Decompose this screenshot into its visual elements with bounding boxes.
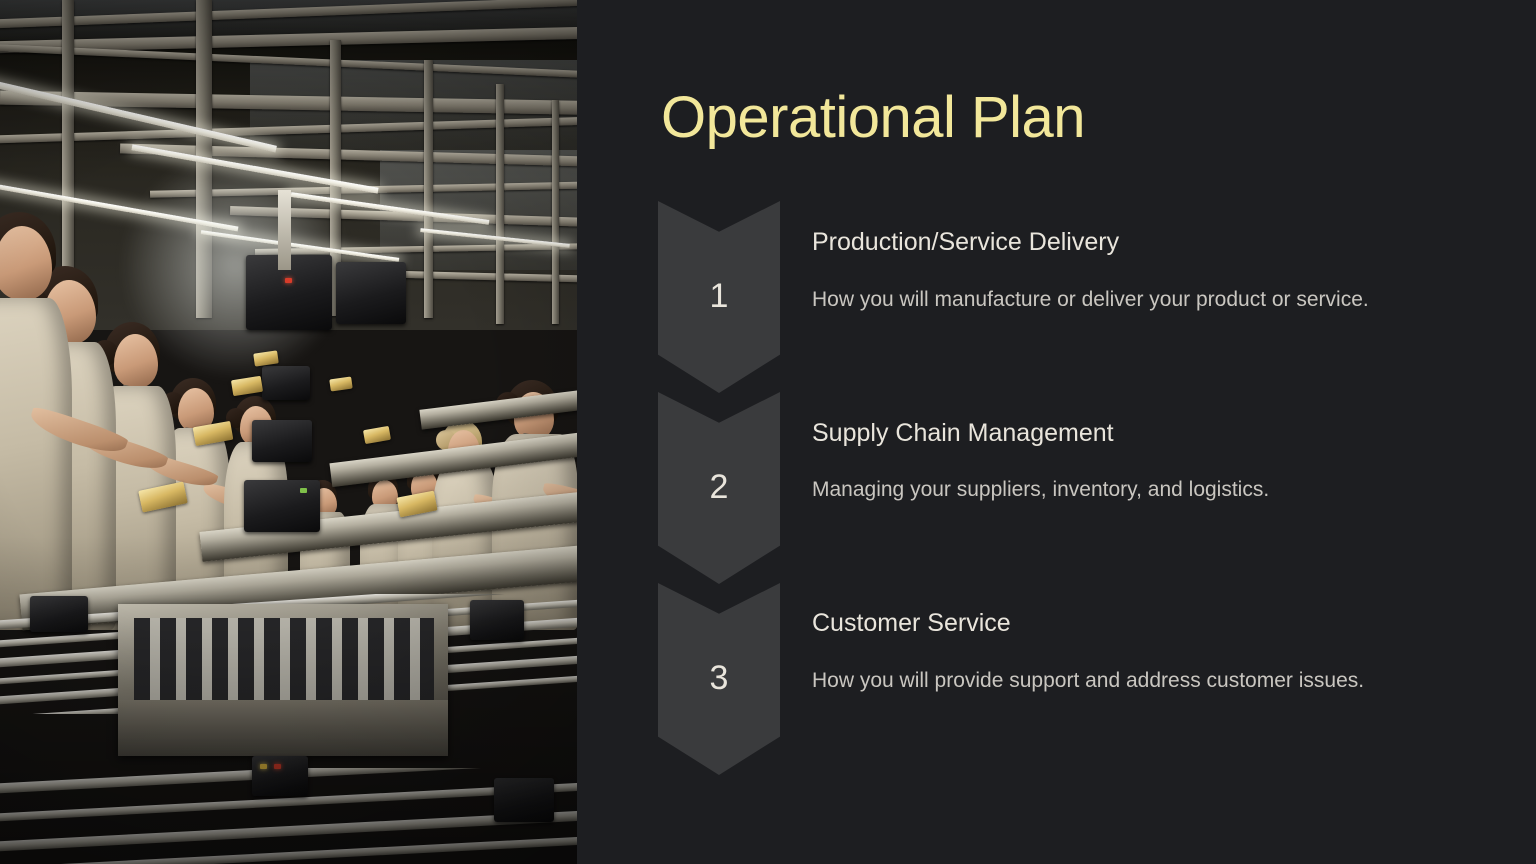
step-number-3: 3	[658, 659, 780, 698]
step-number-1: 1	[658, 277, 780, 316]
step-title-1: Production/Service Delivery	[812, 228, 1119, 257]
step-title-3: Customer Service	[812, 609, 1011, 638]
line-module	[470, 600, 524, 640]
line-module	[30, 596, 88, 632]
line-module	[494, 778, 554, 822]
steps-list: 1 Production/Service Delivery How you wi…	[577, 0, 1536, 864]
step-description-3: How you will provide support and address…	[812, 662, 1397, 700]
slide: Operational Plan 1 Production/Service De…	[0, 0, 1536, 864]
control-panel	[252, 756, 308, 796]
step-title-2: Supply Chain Management	[812, 419, 1114, 448]
worker-figure	[0, 230, 74, 630]
step-number-2: 2	[658, 468, 780, 507]
step-description-1: How you will manufacture or deliver your…	[812, 281, 1397, 319]
content-panel: Operational Plan 1 Production/Service De…	[577, 0, 1536, 864]
line-module	[244, 480, 320, 532]
line-module	[262, 366, 310, 400]
metal-tray	[118, 604, 448, 756]
line-module	[252, 420, 312, 462]
step-description-2: Managing your suppliers, inventory, and …	[812, 471, 1397, 509]
factory-photo	[0, 0, 577, 864]
